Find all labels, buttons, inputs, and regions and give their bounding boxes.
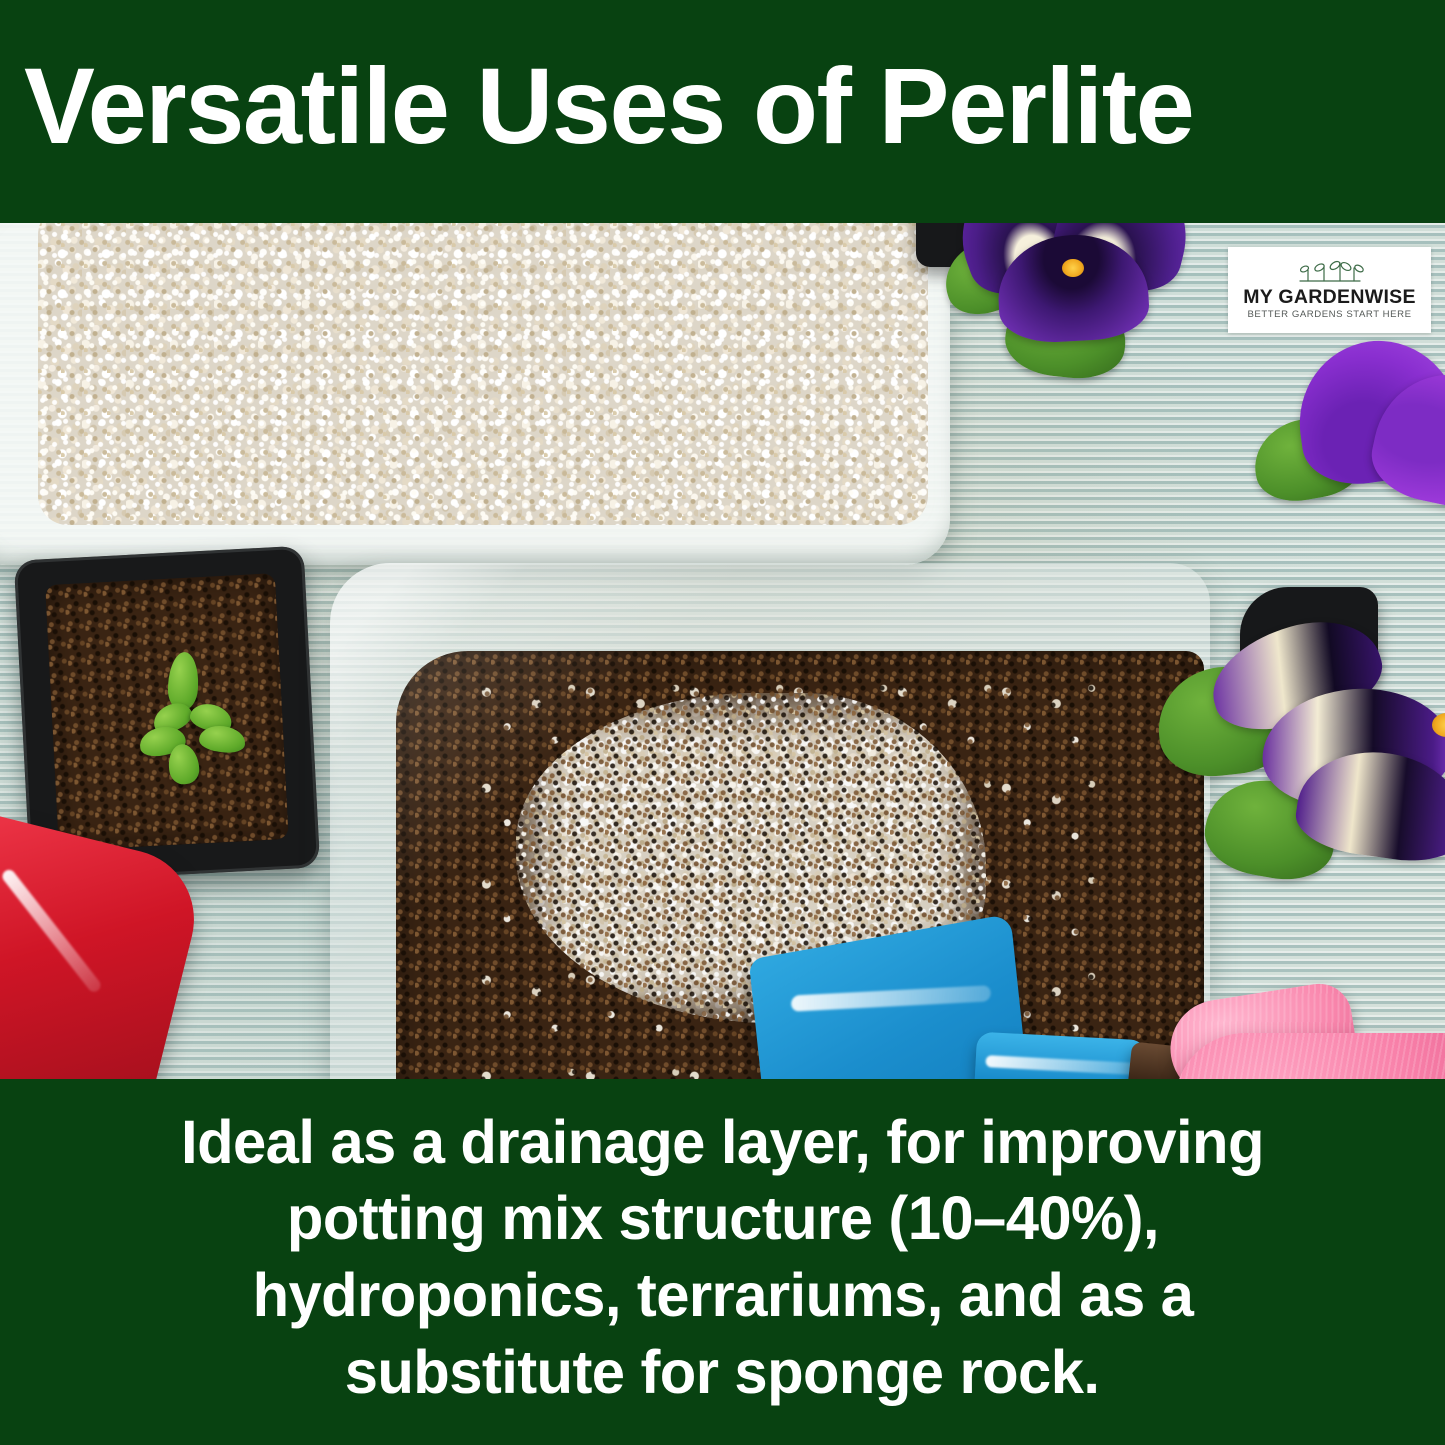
caption-line-2: potting mix structure (10–40%), [286, 1180, 1158, 1257]
pansy-flower-top [950, 223, 1210, 397]
brand-name: MY GARDENWISE [1243, 287, 1416, 307]
seedling-plant [139, 649, 256, 785]
blue-trowel [760, 918, 1230, 1079]
caption-bar: Ideal as a drainage layer, for improving… [0, 1079, 1445, 1445]
trowel-neck [973, 1032, 1147, 1079]
pansy-flower-lower [1250, 603, 1445, 853]
pansy-flower-right [1288, 341, 1445, 531]
perlite-infographic: Versatile Uses of Perlite [0, 0, 1445, 1445]
perlite-tray [0, 223, 950, 565]
perlite-granules [38, 223, 928, 525]
caption-line-4: substitute for sponge rock. [345, 1334, 1100, 1411]
brand-tagline: BETTER GARDENS START HERE [1247, 309, 1411, 321]
brand-logo-badge[interactable]: MY GARDENWISE BETTER GARDENS START HERE [1228, 247, 1431, 333]
page-title: Versatile Uses of Perlite [24, 52, 1193, 160]
pink-glove [1165, 993, 1445, 1079]
caption-line-3: hydroponics, terrariums, and as a [252, 1257, 1193, 1334]
glove-palm [1175, 1033, 1445, 1079]
photo-panel: MY GARDENWISE BETTER GARDENS START HERE [0, 223, 1445, 1079]
caption-line-1: Ideal as a drainage layer, for improving [181, 1104, 1264, 1181]
title-bar: Versatile Uses of Perlite [0, 0, 1445, 223]
three-sprouts-icon [1294, 259, 1366, 285]
